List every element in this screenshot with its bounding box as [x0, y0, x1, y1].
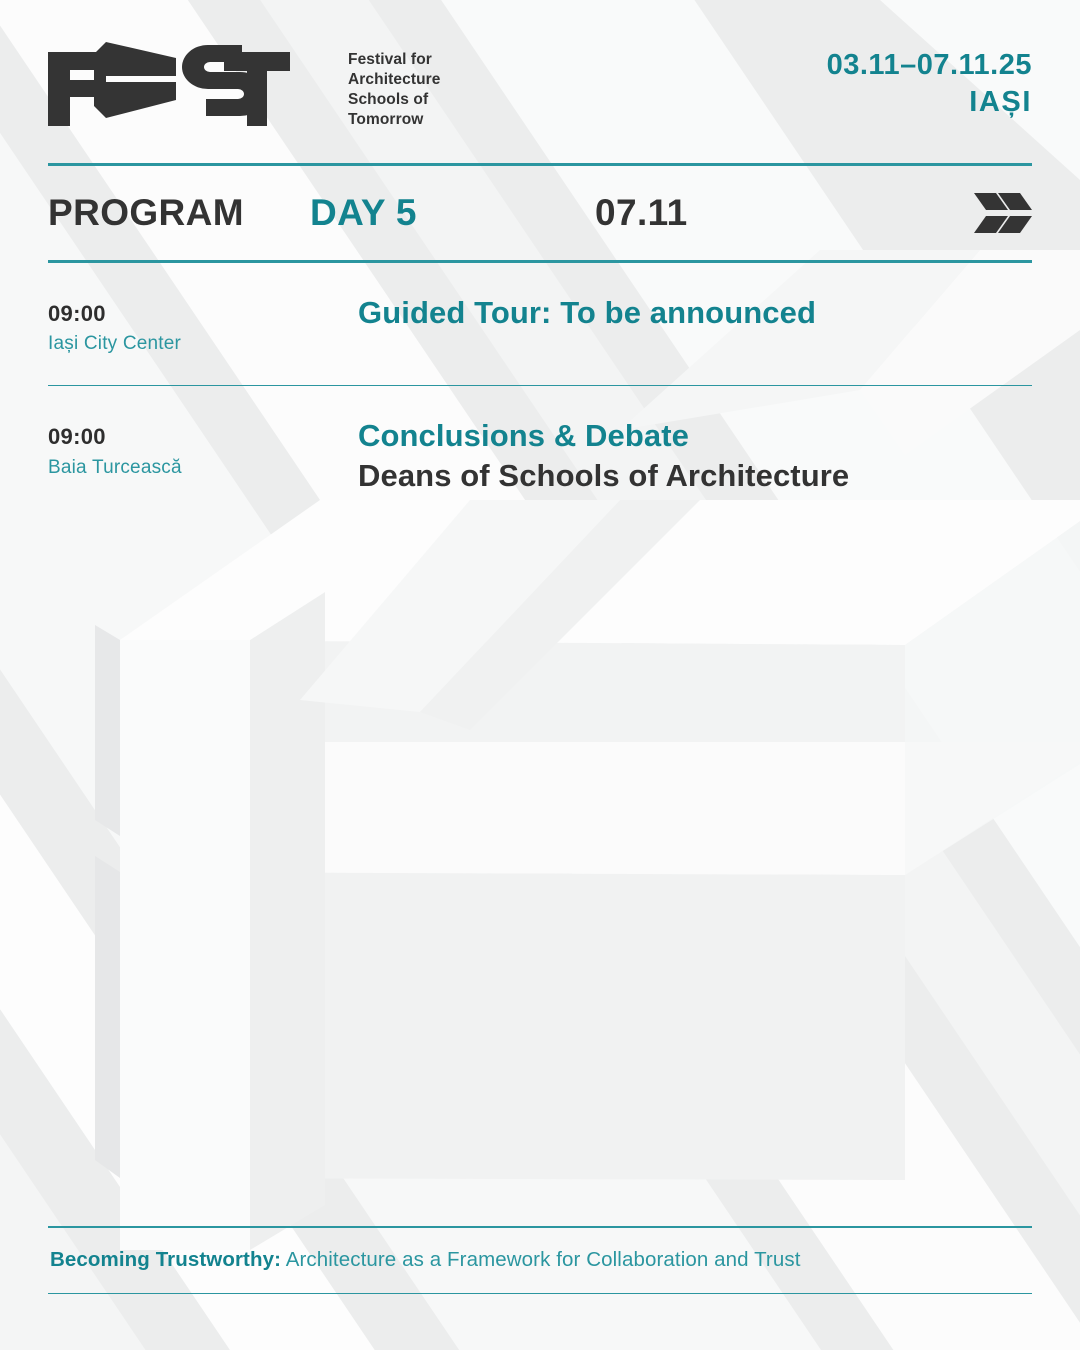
event-when: 09:00 Baia Turcească: [48, 416, 358, 482]
masthead: Festival for Architecture Schools of Tom…: [48, 0, 1032, 131]
event-time: 09:00: [48, 423, 358, 451]
event-what: Conclusions & Debate Deans of Schools of…: [358, 416, 1032, 495]
event-row[interactable]: 09:00 Baia Turcească Conclusions & Debat…: [48, 386, 1032, 521]
event-subtitle: Deans of Schools of Architecture: [358, 456, 1032, 496]
program-date: 07.11: [595, 192, 974, 234]
next-day-button[interactable]: [974, 190, 1032, 236]
footer: Becoming Trustworthy: Architecture as a …: [48, 1226, 1032, 1294]
event-venue: Baia Turcească: [48, 454, 358, 483]
double-chevron-right-icon: [974, 190, 1032, 236]
brand-tagline: Festival for Architecture Schools of Tom…: [348, 34, 441, 131]
festival-theme-lead: Becoming Trustworthy:: [50, 1248, 281, 1271]
program-poster: Festival for Architecture Schools of Tom…: [0, 0, 1080, 1350]
event-when: 09:00 Iași City Center: [48, 293, 358, 359]
divider-below-footer: [48, 1293, 1032, 1295]
festival-city: IAȘI: [827, 84, 1032, 121]
program-bar: PROGRAM DAY 5 07.11: [48, 166, 1032, 260]
event-venue: Iași City Center: [48, 330, 358, 359]
festival-theme-rest: Architecture as a Framework for Collabor…: [281, 1248, 800, 1271]
festival-theme: Becoming Trustworthy: Architecture as a …: [48, 1228, 1032, 1293]
festival-dates: 03.11–07.11.25: [827, 47, 1032, 84]
event-time: 09:00: [48, 300, 358, 328]
event-row[interactable]: 09:00 Iași City Center Guided Tour: To b…: [48, 263, 1032, 385]
poster-content: Festival for Architecture Schools of Tom…: [0, 0, 1080, 1350]
event-meta: 03.11–07.11.25 IAȘI: [827, 34, 1032, 121]
brand-block: Festival for Architecture Schools of Tom…: [48, 34, 441, 131]
event-list: 09:00 Iași City Center Guided Tour: To b…: [48, 263, 1032, 522]
program-day[interactable]: DAY 5: [310, 192, 595, 234]
event-what: Guided Tour: To be announced: [358, 293, 1032, 333]
program-label: PROGRAM: [48, 192, 310, 234]
event-title: Conclusions & Debate: [358, 416, 1032, 456]
fast-logo: [48, 34, 290, 126]
event-title: Guided Tour: To be announced: [358, 293, 1032, 333]
